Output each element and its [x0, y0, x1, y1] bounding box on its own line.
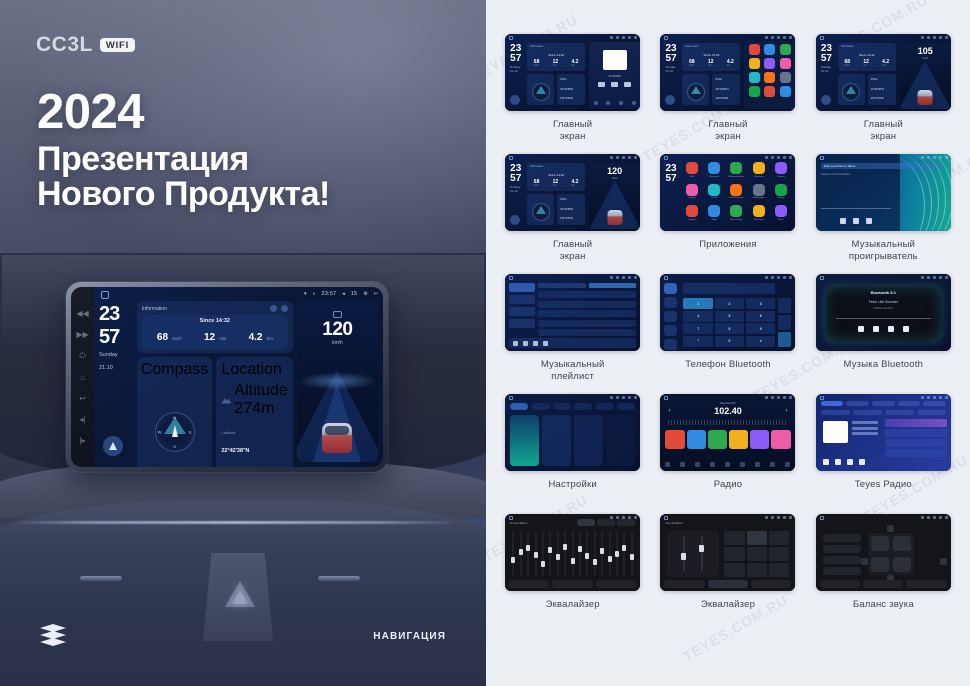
- home-icon: [664, 276, 668, 280]
- speaker-front-left: [871, 536, 889, 551]
- compass-title: Compass: [141, 361, 209, 379]
- app-item[interactable]: Music Player: [727, 205, 746, 221]
- prev-station-button[interactable]: ‹: [668, 408, 670, 414]
- eq-band[interactable]: [569, 531, 575, 576]
- speed-unit: km/h: [297, 340, 378, 346]
- toolbar-icon[interactable]: [710, 462, 715, 467]
- eq-preset[interactable]: [597, 519, 615, 526]
- screenshot-thumbnail[interactable]: [816, 394, 951, 471]
- compass-widget: [682, 74, 709, 105]
- home-icon[interactable]: [509, 156, 513, 160]
- altitude-label: Altitude: [234, 382, 287, 399]
- next-station-button[interactable]: ›: [785, 408, 787, 414]
- eq-mode-button[interactable]: [747, 563, 767, 577]
- prev-icon: [523, 341, 528, 346]
- app-item[interactable]: FileManager: [749, 184, 768, 200]
- app-icon: [764, 44, 775, 55]
- progress-bar[interactable]: [821, 208, 891, 210]
- toolbar-icon[interactable]: [770, 462, 775, 467]
- information-card: Information Since 14:32 68km/h12min4.2km: [838, 43, 896, 71]
- screenshot-thumbnail[interactable]: Bluetooth 5.1 Feels Like Summer Childish…: [816, 274, 951, 351]
- compass-south: S: [173, 444, 176, 449]
- app-icon: [730, 162, 742, 174]
- eq-mode-button[interactable]: [769, 547, 789, 561]
- eq-band[interactable]: [525, 531, 531, 576]
- dial-key[interactable]: *: [683, 336, 713, 347]
- tab-system[interactable]: [617, 403, 635, 410]
- clock-minutes: 57: [510, 174, 521, 184]
- slider-handle[interactable]: [681, 553, 686, 560]
- screenshot-thumbnail[interactable]: Sound Effect: [505, 514, 640, 591]
- toolbar-icon[interactable]: [740, 462, 745, 467]
- eq-mode-button[interactable]: [724, 547, 744, 561]
- app-item[interactable]: DVR Recorder: [727, 184, 746, 200]
- home-screen[interactable]: 23 57 Sunday21.10 Information Since 14:3…: [660, 34, 795, 111]
- clock-minutes: 57: [821, 54, 832, 64]
- eq-band[interactable]: [606, 531, 612, 576]
- gallery-cell-radio: Receive FM 102.40 ‹ › Радио: [653, 394, 802, 512]
- backspace-icon[interactable]: [778, 315, 791, 330]
- apps-tile[interactable]: [744, 41, 795, 109]
- power-icon[interactable]: ⏻: [78, 351, 87, 360]
- station-list: [885, 419, 947, 459]
- next-icon: [866, 218, 872, 224]
- radio-preset[interactable]: [665, 430, 684, 449]
- navigation-launch-button[interactable]: [510, 215, 520, 225]
- eq-band[interactable]: [547, 531, 553, 576]
- track-list: [538, 283, 636, 339]
- clock-date: 21.10: [99, 365, 133, 372]
- volume-down-icon[interactable]: ◂|: [78, 415, 87, 424]
- screenshot-thumbnail[interactable]: Receive FM 102.40 ‹ ›: [660, 394, 795, 471]
- app-icon: [775, 162, 787, 174]
- dial-key[interactable]: #: [746, 336, 776, 347]
- eq-band[interactable]: [555, 531, 561, 576]
- tab-item[interactable]: [898, 401, 921, 406]
- frequency-dial[interactable]: [668, 420, 787, 425]
- sound-balance-screen[interactable]: [816, 514, 951, 591]
- arrow-right-icon[interactable]: [940, 558, 947, 565]
- gallery-cell-home-2: 23 57 Sunday21.10 Information Since 14:3…: [653, 34, 802, 152]
- pause-icon: [853, 218, 859, 224]
- tab-wlan[interactable]: [510, 403, 528, 410]
- screenshot-thumbnail[interactable]: 23 57 Sunday21.10 Information Since 14:3…: [505, 34, 640, 111]
- speed-value: 120: [589, 167, 640, 176]
- clock-minutes: 57: [99, 324, 133, 347]
- app-icon: [764, 72, 775, 83]
- screenshot-caption: Главныйэкран: [553, 239, 592, 262]
- tab-sound[interactable]: [531, 403, 549, 410]
- gallery-cell-apps: 23 57 AUXBluetoothBluetooth MusicCalcula…: [653, 154, 802, 272]
- extra-tile[interactable]: [606, 415, 635, 466]
- gallery-cell-bt-phone: 123456789*0# Телефон Bluetooth: [653, 274, 802, 392]
- home-screen[interactable]: 23 57 Sunday21.10 Information Since 14:3…: [505, 154, 640, 231]
- next-icon: [903, 326, 909, 332]
- dial-key[interactable]: 9: [746, 323, 776, 334]
- volume-up-icon[interactable]: |▸: [78, 436, 87, 445]
- app-item[interactable]: AUX: [682, 162, 701, 178]
- tab-fader[interactable]: [552, 580, 592, 588]
- filter-item[interactable]: [885, 410, 914, 415]
- speed-icon: [333, 311, 342, 318]
- headline-line-1: Презентация: [37, 142, 330, 177]
- list-item: [509, 319, 535, 328]
- eq-band[interactable]: [540, 531, 546, 576]
- gallery-cell-playlist: Музыкальныйплейлист: [498, 274, 647, 392]
- equalizer-screen[interactable]: Sound Effect: [505, 514, 640, 591]
- navigation-launch-button[interactable]: [665, 95, 675, 105]
- list-item: [538, 329, 636, 336]
- home-icon[interactable]: [664, 36, 668, 40]
- list-item[interactable]: [823, 534, 861, 542]
- status-bar: [610, 156, 637, 159]
- tab-general[interactable]: [595, 403, 613, 410]
- mute-icon[interactable]: [664, 325, 677, 336]
- eq-band[interactable]: [621, 531, 627, 576]
- dial-key[interactable]: 8: [715, 323, 745, 334]
- latitude-value: 22°42'38"N: [221, 448, 249, 454]
- dial-key[interactable]: 2: [715, 298, 745, 309]
- radio-preset[interactable]: [729, 430, 748, 449]
- arrow-up-icon[interactable]: [887, 525, 894, 532]
- back-icon[interactable]: ↩: [78, 394, 87, 403]
- screenshot-thumbnail[interactable]: [505, 394, 640, 471]
- list-item: [538, 310, 636, 317]
- eq-mode-button[interactable]: [747, 547, 767, 561]
- carplay-tile[interactable]: [542, 415, 571, 466]
- screenshot-caption: Радио: [714, 479, 742, 491]
- screenshot-thumbnail[interactable]: 23 57 Sunday21.10 Information Since 14:3…: [505, 154, 640, 231]
- tab-display[interactable]: [553, 403, 571, 410]
- bluetooth-phone-screen[interactable]: 123456789*0#: [660, 274, 795, 351]
- dial-key[interactable]: 0: [715, 336, 745, 347]
- eq-preset[interactable]: [617, 519, 635, 526]
- app-icon: [749, 72, 760, 83]
- list-item: [509, 283, 535, 292]
- clock-minutes: 57: [510, 54, 521, 64]
- eq-band[interactable]: [592, 531, 598, 576]
- eq-band[interactable]: [584, 531, 590, 576]
- screenshot-caption: Эквалайзер: [546, 599, 600, 611]
- keypad-icon[interactable]: [664, 283, 677, 294]
- toolbar-icon[interactable]: [755, 462, 760, 467]
- tab-item[interactable]: [923, 401, 946, 406]
- screenshot-caption: Teyes Радио: [855, 479, 912, 491]
- list-item[interactable]: [823, 545, 861, 553]
- gallery-cell-equalizer-2: Sound Effect Эквалайзер: [653, 514, 802, 632]
- compass-widget: Compass N E S W: [137, 357, 213, 467]
- home-screen[interactable]: 23 57 Sunday21.10 Information Since 14:3…: [816, 34, 951, 111]
- settings-icon[interactable]: [664, 339, 677, 350]
- eq-mode-button[interactable]: [769, 531, 789, 545]
- radio-preset[interactable]: [771, 430, 790, 449]
- list-item[interactable]: [885, 419, 947, 427]
- call-icon[interactable]: [778, 332, 791, 347]
- screenshot-thumbnail[interactable]: Sound Effect: [660, 514, 795, 591]
- refresh-icon[interactable]: [270, 305, 277, 312]
- app-icon: [780, 72, 791, 83]
- eq-band[interactable]: [518, 531, 524, 576]
- toolbar-icon[interactable]: [680, 462, 685, 467]
- equalizer-2-screen[interactable]: Sound Effect: [660, 514, 795, 591]
- information-card: Information Since 14:32 68km/h12min4.2km: [527, 43, 585, 71]
- history-icon[interactable]: [664, 311, 677, 322]
- filter-item[interactable]: [821, 410, 850, 415]
- navigation-launch-button[interactable]: [103, 436, 123, 456]
- clock-minutes: 57: [665, 174, 676, 184]
- app-item[interactable]: Radio: [771, 205, 790, 221]
- list-item[interactable]: [885, 449, 947, 457]
- eq-mode-button[interactable]: [724, 563, 744, 577]
- compass-widget: [527, 194, 554, 225]
- back-icon[interactable]: ↩: [374, 291, 378, 297]
- screenshot-caption: Музыкальныйпроигрыватель: [849, 239, 918, 262]
- compass-east: E: [189, 430, 192, 435]
- home-icon: [664, 156, 668, 160]
- screenshot-thumbnail[interactable]: Dark Land Demo Tapes Cottony Ombre Drobl…: [816, 154, 951, 231]
- music-player-screen[interactable]: Dark Land Demo Tapes Cottony Ombre Drobl…: [816, 154, 951, 231]
- stop-icon: [835, 459, 841, 465]
- toolbar-icon[interactable]: [695, 462, 700, 467]
- playlist-screen[interactable]: [505, 274, 640, 351]
- album-art: [513, 341, 518, 346]
- home-icon: [664, 516, 668, 520]
- tab-fader[interactable]: [863, 580, 903, 588]
- tab-eq[interactable]: [509, 580, 549, 588]
- app-icon: [753, 162, 765, 174]
- app-icon: [708, 162, 720, 174]
- eq-mode-button[interactable]: [769, 563, 789, 577]
- play-icon: [611, 82, 618, 87]
- clock-day: Sunday21.10: [821, 66, 831, 74]
- app-item[interactable]: Play Store: [749, 205, 768, 221]
- information-title: Information: [142, 306, 167, 312]
- app-item[interactable]: Bluetooth: [705, 162, 724, 178]
- eq-mode-button[interactable]: [747, 531, 767, 545]
- progress-bar[interactable]: [836, 318, 931, 319]
- eq-preset[interactable]: [577, 519, 595, 526]
- eq-band[interactable]: [629, 531, 635, 576]
- screenshot-thumbnail[interactable]: 23 57 AUXBluetoothBluetooth MusicCalcula…: [660, 154, 795, 231]
- radio-screen[interactable]: Receive FM 102.40 ‹ ›: [660, 394, 795, 471]
- app-item[interactable]: Bluetooth Music: [727, 162, 746, 178]
- tab-apps[interactable]: [574, 403, 592, 410]
- home-icon[interactable]: [820, 36, 824, 40]
- presentation-page: CC3L WIFI 2024 Презентация Нового Продук…: [0, 0, 970, 686]
- playlist-sidebar: [509, 283, 535, 335]
- balance-pad[interactable]: [868, 533, 914, 575]
- eq-band[interactable]: [532, 531, 538, 576]
- clock-widget: 23 57 Sunday 21.10: [99, 301, 133, 462]
- information-card: Information Since 14:32 68km/h12min4.2km: [682, 43, 740, 71]
- head-unit[interactable]: ◀◀ ▶▶ ⏻ ⌂ ↩ ◂| |▸ ▾ ◗ 23:57 ◂ 15: [66, 282, 388, 472]
- gallery-cell-home-3: 23 57 Sunday21.10 Information Since 14:3…: [809, 34, 958, 152]
- screenshot-thumbnail[interactable]: 23 57 Sunday21.10 Information Since 14:3…: [816, 34, 951, 111]
- tab-balance[interactable]: [751, 580, 791, 588]
- speed-readout: 120 km/h: [297, 311, 378, 346]
- eq-title: Sound Effect: [665, 521, 682, 525]
- screenshot-thumbnail[interactable]: 23 57 Sunday21.10 Information Since 14:3…: [660, 34, 795, 111]
- dial-key[interactable]: 4: [683, 311, 713, 322]
- next-icon: [624, 82, 631, 87]
- screenshot-thumbnail[interactable]: [816, 514, 951, 591]
- prev-icon: [840, 218, 846, 224]
- screenshot-caption: Телефон Bluetooth: [685, 359, 771, 371]
- toolbar-icon[interactable]: [665, 462, 670, 467]
- tab-item[interactable]: [821, 401, 844, 406]
- list-item: [538, 301, 636, 308]
- list-item: [509, 307, 535, 316]
- home-icon[interactable]: ⌂: [78, 373, 87, 382]
- car-3d-model: [607, 210, 622, 225]
- apps-screen[interactable]: 23 57 AUXBluetoothBluetooth MusicCalcula…: [660, 154, 795, 231]
- app-icon: [749, 58, 760, 69]
- app-item[interactable]: Clock: [705, 184, 724, 200]
- bluetooth-music-screen[interactable]: Bluetooth 5.1 Feels Like Summer Childish…: [816, 274, 951, 351]
- contacts-icon[interactable]: [664, 297, 677, 308]
- star-icon[interactable]: [778, 298, 791, 313]
- teyes-radio-screen[interactable]: [816, 394, 951, 471]
- home-icon: [509, 396, 513, 400]
- home-icon: [664, 396, 668, 400]
- compass-north: N: [173, 415, 176, 420]
- app-item[interactable]: Camera: [771, 162, 790, 178]
- dial-key[interactable]: 1: [683, 298, 713, 309]
- radio-preset[interactable]: [750, 430, 769, 449]
- navigation-tile[interactable]: 105km/h: [900, 42, 951, 109]
- dial-key[interactable]: 3: [746, 298, 776, 309]
- expand-icon[interactable]: [281, 305, 288, 312]
- number-field[interactable]: [683, 283, 775, 294]
- settings-screen[interactable]: [505, 394, 640, 471]
- prev-icon: [598, 82, 605, 87]
- filter-item[interactable]: [853, 410, 882, 415]
- list-item[interactable]: [885, 429, 947, 437]
- list-item[interactable]: [885, 439, 947, 447]
- eq-band[interactable]: [614, 531, 620, 576]
- eq-band[interactable]: [562, 531, 568, 576]
- app-icon: [708, 205, 720, 217]
- tab-item[interactable]: [846, 401, 869, 406]
- list-item: [538, 320, 636, 327]
- home-icon: [820, 396, 824, 400]
- prev-icon[interactable]: ◀◀: [78, 309, 87, 318]
- status-bar: [610, 36, 637, 39]
- app-item[interactable]: Gallery: [771, 184, 790, 200]
- home-icon[interactable]: [509, 36, 513, 40]
- album-art: [823, 421, 848, 443]
- eq-band[interactable]: [599, 531, 605, 576]
- head-unit-side-buttons[interactable]: ◀◀ ▶▶ ⏻ ⌂ ↩ ◂| |▸: [71, 287, 94, 467]
- list-item[interactable]: [823, 567, 861, 575]
- dial-key[interactable]: 5: [715, 311, 745, 322]
- app-icon: [775, 205, 787, 217]
- preset-list: [823, 534, 861, 578]
- home-screen[interactable]: 23 57 Sunday21.10 Information Since 14:3…: [505, 34, 640, 111]
- clock-day: Sunday: [99, 352, 133, 359]
- filter-item[interactable]: [917, 410, 946, 415]
- phone-sidebar: [664, 283, 679, 346]
- wifi-tile[interactable]: [510, 415, 539, 466]
- screenshot-caption: Главныйэкран: [864, 119, 903, 142]
- information-card: Information Since 14:32: [137, 301, 293, 353]
- dial-key[interactable]: 7: [683, 323, 713, 334]
- screenshot-caption: Приложения: [699, 239, 757, 251]
- toolbar-icon[interactable]: [725, 462, 730, 467]
- radio-preset[interactable]: [687, 430, 706, 449]
- navigation-launch-button[interactable]: [510, 95, 520, 105]
- tab-eq[interactable]: [664, 580, 704, 588]
- tab-balance[interactable]: [596, 580, 636, 588]
- clock-hours: 23: [99, 301, 133, 324]
- app-item[interactable]: Calculator: [749, 162, 768, 178]
- home-icon: [820, 276, 824, 280]
- home-icon[interactable]: [101, 291, 109, 299]
- prev-icon: [858, 326, 864, 332]
- speed-unit: km/h: [589, 177, 640, 180]
- tab-balance[interactable]: [906, 580, 946, 588]
- app-icon: [749, 86, 760, 97]
- altitude-value: 274m: [234, 400, 274, 417]
- screenshot-caption: Настройки: [548, 479, 596, 491]
- app-item[interactable]: Google: [682, 205, 701, 221]
- screenshot-caption: Главныйэкран: [553, 119, 592, 142]
- dashboard-vent-line: [10, 521, 460, 524]
- headline-year: 2024: [37, 88, 330, 138]
- trip-distance-unit: km: [267, 336, 273, 341]
- slider-handle[interactable]: [699, 545, 704, 552]
- compass-dial: N E S W: [155, 412, 195, 452]
- dashboard-vent-slot-right: [318, 576, 360, 581]
- dial-key[interactable]: 6: [746, 311, 776, 322]
- head-unit-screen[interactable]: ▾ ◗ 23:57 ◂ 15 ⚙ ↩ 23 57 Sunday 21.1: [94, 287, 383, 467]
- gallery-cell-settings: Настройки: [498, 394, 647, 512]
- eq-mode-button[interactable]: [724, 531, 744, 545]
- app-item[interactable]: Chrome: [682, 184, 701, 200]
- dial-pad: 123456789*0#: [683, 298, 775, 347]
- screenshot-grid: 23 57 Sunday21.10 Information Since 14:3…: [486, 0, 970, 686]
- logo-model: CC3L: [36, 33, 93, 57]
- navigation-tile[interactable]: 120km/h: [589, 162, 640, 229]
- tab-item[interactable]: [872, 401, 895, 406]
- speaker-rear-right: [893, 557, 911, 572]
- eq-band[interactable]: [510, 531, 516, 576]
- status-bar: [921, 36, 948, 39]
- tab-eq[interactable]: [820, 580, 860, 588]
- list-item[interactable]: [823, 556, 861, 564]
- toolbar-icon[interactable]: [785, 462, 790, 467]
- screenshot-caption: Музыка Bluetooth: [844, 359, 924, 371]
- music-tile[interactable]: 07:50 PM: [589, 42, 640, 109]
- radio-preset[interactable]: [708, 430, 727, 449]
- location-widget: 274m 22°42'38"N114°4'33"E: [868, 74, 896, 105]
- screenshot-thumbnail[interactable]: 123456789*0#: [660, 274, 795, 351]
- next-icon[interactable]: ▶▶: [78, 330, 87, 339]
- arrow-left-icon[interactable]: [861, 558, 868, 565]
- gear-icon[interactable]: ⚙: [363, 291, 367, 297]
- clock-minutes: 57: [665, 54, 676, 64]
- radio-band: Receive FM: [660, 401, 795, 405]
- app-item[interactable]: Maps: [705, 205, 724, 221]
- status-time: 23:57: [322, 291, 337, 297]
- clock-day: Sunday21.10: [665, 66, 675, 74]
- navigation-launch-button[interactable]: [821, 95, 831, 105]
- screenshot-thumbnail[interactable]: [505, 274, 640, 351]
- about-tile[interactable]: [574, 415, 603, 466]
- eq-band[interactable]: [577, 531, 583, 576]
- navigation-widget[interactable]: 120 km/h: [297, 301, 378, 462]
- tab-fader[interactable]: [708, 580, 748, 588]
